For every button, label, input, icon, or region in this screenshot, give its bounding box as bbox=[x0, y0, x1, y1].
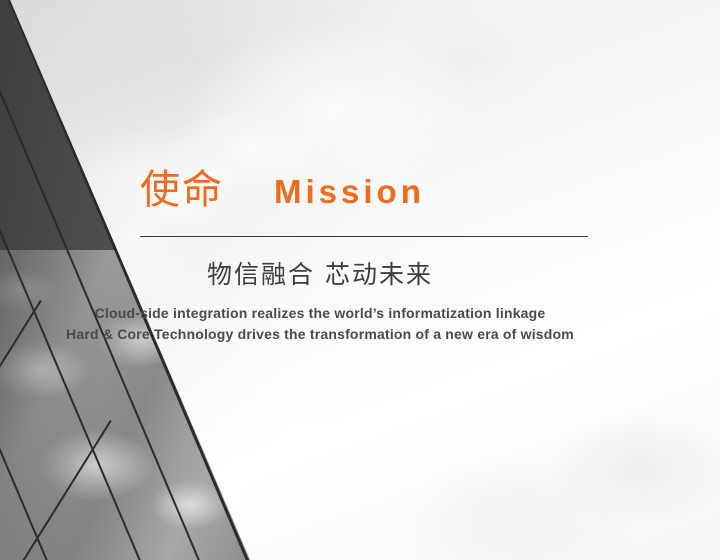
mission-banner: 使命 Mission 物信融合 芯动未来 Cloud-side integrat… bbox=[0, 0, 720, 560]
heading-divider bbox=[140, 236, 588, 237]
heading-english: Mission bbox=[274, 175, 425, 208]
description-line-1: Cloud-side integration realizes the worl… bbox=[0, 303, 720, 324]
banner-description: Cloud-side integration realizes the worl… bbox=[0, 303, 720, 345]
heading-chinese: 使命 bbox=[140, 170, 224, 210]
banner-subtitle: 物信融合 芯动未来 bbox=[0, 259, 720, 290]
description-line-2: Hard & Core Technology drives the transf… bbox=[0, 324, 720, 345]
banner-heading: 使命 Mission bbox=[140, 170, 600, 210]
banner-content: 使命 Mission 物信融合 芯动未来 Cloud-side integrat… bbox=[0, 0, 720, 560]
